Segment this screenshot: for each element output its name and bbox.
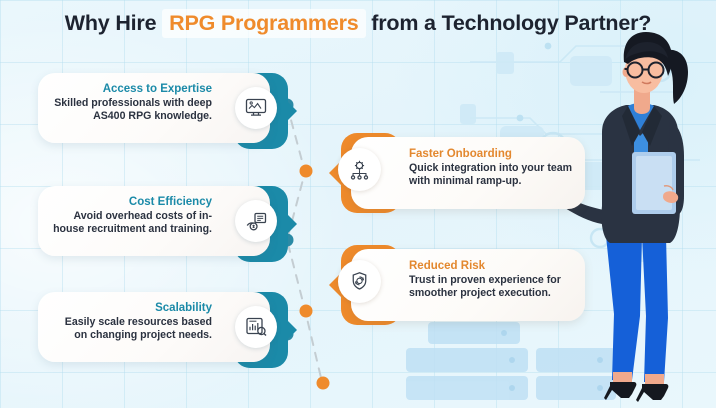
card-title: Scalability [50, 301, 212, 315]
connector-dot-orange-2 [300, 305, 313, 318]
card-body: Reduced Risk Trust in proven experience … [351, 249, 585, 321]
card-reduced-risk[interactable]: Reduced Risk Trust in proven experience … [333, 245, 585, 325]
card-description: Avoid overhead costs of in-house recruit… [50, 210, 212, 236]
gear-network-icon [338, 148, 381, 191]
card-description: Trust in proven experience for smoother … [409, 274, 575, 300]
card-title: Cost Efficiency [50, 195, 212, 209]
card-title: Reduced Risk [409, 259, 575, 273]
cost-savings-icon [235, 200, 277, 242]
card-body: Faster Onboarding Quick integration into… [351, 137, 585, 209]
card-title: Faster Onboarding [409, 147, 575, 161]
card-accent-arrow [285, 212, 297, 236]
connector-dot-orange-3 [317, 377, 330, 390]
desktop-monitor-icon [235, 87, 277, 129]
connector-dot-orange-1 [300, 165, 313, 178]
title-text-after: from a Technology Partner? [366, 11, 652, 35]
card-description: Skilled professionals with deep AS400 RP… [50, 97, 212, 123]
card-title: Access to Expertise [50, 82, 212, 96]
data-analytics-icon [235, 306, 277, 348]
shield-cycle-icon [338, 260, 381, 303]
card-description: Easily scale resources based on changing… [50, 316, 212, 342]
card-accent-arrow [285, 318, 297, 342]
card-description: Quick integration into your team with mi… [409, 162, 575, 188]
title-highlight: RPG Programmers [162, 9, 365, 38]
card-faster-onboarding[interactable]: Faster Onboarding Quick integration into… [333, 133, 585, 213]
card-scalability[interactable]: Scalability Easily scale resources based… [38, 292, 288, 368]
title-text-before: Why Hire [65, 11, 162, 35]
card-access-to-expertise[interactable]: Access to Expertise Skilled professional… [38, 73, 288, 149]
card-accent-arrow [285, 99, 297, 123]
page-title: Why Hire RPG Programmers from a Technolo… [0, 11, 716, 36]
card-cost-efficiency[interactable]: Cost Efficiency Avoid overhead costs of … [38, 186, 288, 262]
